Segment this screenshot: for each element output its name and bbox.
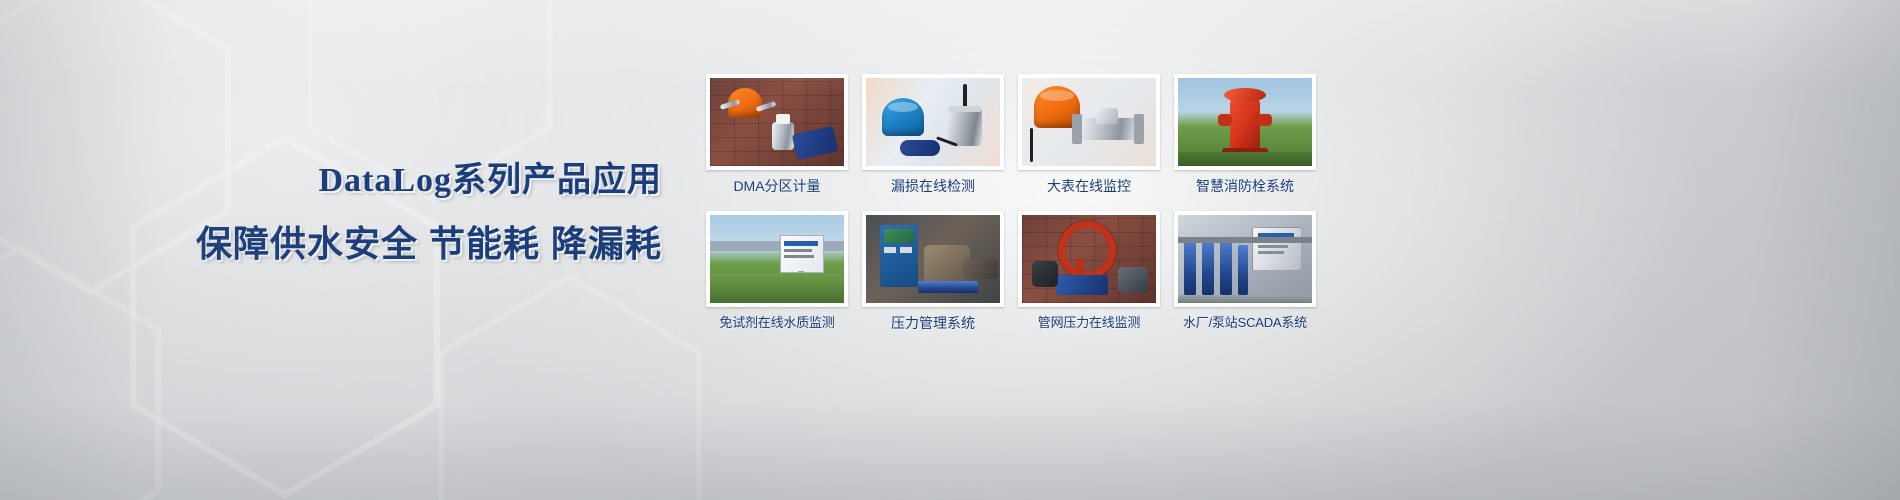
dma-zone-metering-photo [710,78,844,166]
reagent-free-water-quality-photo [710,215,844,303]
product-caption: 免试剂在线水质监测 [706,314,848,332]
product-caption: 水厂/泵站SCADA系统 [1174,314,1316,332]
product-thumbnail[interactable] [1018,211,1160,307]
product-card[interactable]: 免试剂在线水质监测 [706,211,848,332]
product-caption: 压力管理系统 [862,314,1004,332]
headline-line-1: DataLog系列产品应用 [0,160,662,202]
product-card[interactable]: 管网压力在线监测 [1018,211,1160,332]
hexagon-icon [430,270,710,500]
pressure-management-photo [866,215,1000,303]
product-grid: DMA分区计量 漏损在线检测 [706,74,1316,332]
headline-line-2: 保障供水安全 节能耗 降漏耗 [0,222,662,266]
scada-system-photo [1178,215,1312,303]
product-caption: 智慧消防栓系统 [1174,177,1316,195]
product-card[interactable]: DMA分区计量 [706,74,848,195]
product-thumbnail[interactable] [706,74,848,170]
large-meter-monitoring-photo [1022,78,1156,166]
product-caption: 漏损在线检测 [862,177,1004,195]
product-caption: DMA分区计量 [706,177,848,195]
product-caption: 大表在线监控 [1018,177,1160,195]
product-thumbnail[interactable] [706,211,848,307]
product-thumbnail[interactable] [1174,74,1316,170]
product-card[interactable]: 智慧消防栓系统 [1174,74,1316,195]
product-caption: 管网压力在线监测 [1018,314,1160,332]
product-thumbnail[interactable] [1174,211,1316,307]
leakage-online-detection-photo [866,78,1000,166]
pipeline-pressure-monitoring-photo [1022,215,1156,303]
product-banner: DataLog系列产品应用 保障供水安全 节能耗 降漏耗 DMA分区计量 [0,0,1900,500]
hexagon-icon [0,240,170,500]
product-thumbnail[interactable] [862,211,1004,307]
headline-block: DataLog系列产品应用 保障供水安全 节能耗 降漏耗 [0,160,700,266]
smart-hydrant-photo [1178,78,1312,166]
product-thumbnail[interactable] [862,74,1004,170]
product-card[interactable]: 水厂/泵站SCADA系统 [1174,211,1316,332]
product-card[interactable]: 漏损在线检测 [862,74,1004,195]
product-card[interactable]: 大表在线监控 [1018,74,1160,195]
product-card[interactable]: 压力管理系统 [862,211,1004,332]
product-thumbnail[interactable] [1018,74,1160,170]
